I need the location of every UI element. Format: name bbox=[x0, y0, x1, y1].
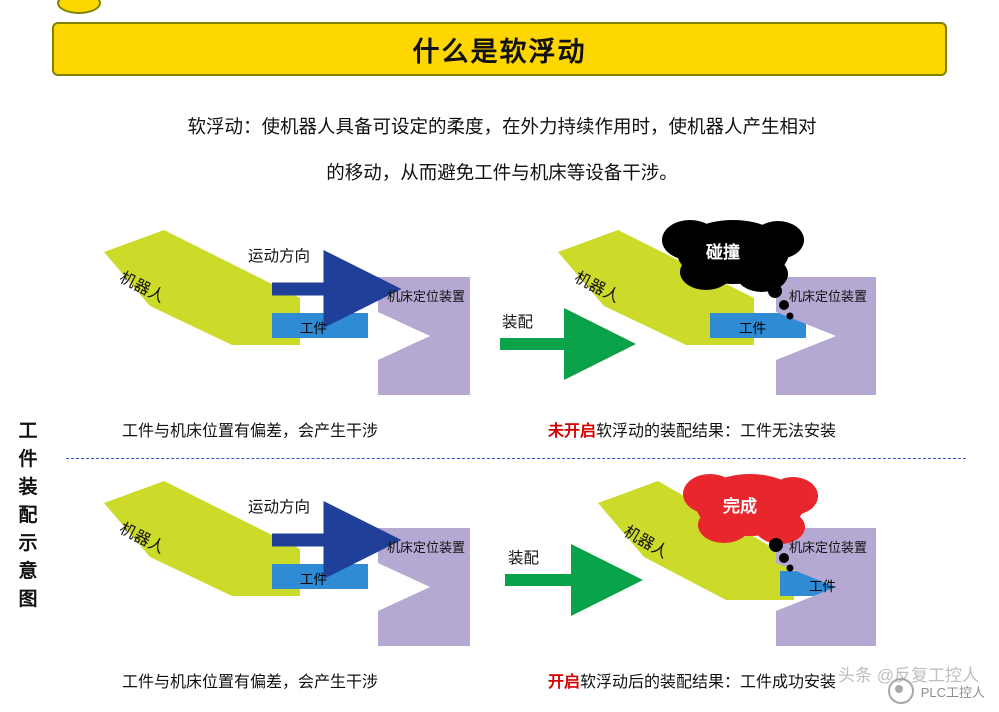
collision-bubble-label: 碰撞 bbox=[706, 238, 740, 263]
caption-bottom-right-highlight: 开启 bbox=[548, 674, 580, 691]
transfer-label-bottom: 装配 bbox=[508, 546, 539, 568]
workpiece-label-top-right: 工件 bbox=[739, 317, 766, 337]
caption-top-right-rest: 软浮动的装配结果：工件无法安装 bbox=[596, 423, 836, 440]
diagram-canvas bbox=[0, 0, 999, 712]
workpiece-label-top-left: 工件 bbox=[300, 317, 327, 337]
watermark-badge-label: PLC工控人 bbox=[921, 682, 985, 701]
watermark-logo-icon bbox=[888, 678, 914, 704]
caption-top-left: 工件与机床位置有偏差，会产生干涉 bbox=[122, 417, 378, 441]
fixture-label-top-left: 机床定位装置 bbox=[387, 286, 465, 305]
caption-bottom-right: 开启软浮动后的装配结果：工件成功安装 bbox=[548, 668, 836, 692]
caption-bottom-left: 工件与机床位置有偏差，会产生干涉 bbox=[122, 668, 378, 692]
caption-bottom-right-rest: 软浮动后的装配结果：工件成功安装 bbox=[580, 674, 836, 691]
fixture-label-bottom-right: 机床定位装置 bbox=[789, 537, 867, 556]
motion-label-bottom-left: 运动方向 bbox=[248, 495, 310, 517]
slide-root: 什么是软浮动 软浮动：使机器人具备可设定的柔度，在外力持续作用时，使机器人产生相… bbox=[0, 0, 999, 712]
transfer-label-top: 装配 bbox=[502, 310, 533, 332]
success-bubble-label: 完成 bbox=[723, 492, 757, 517]
motion-label-top-left: 运动方向 bbox=[248, 244, 310, 266]
watermark-badge: PLC工控人 bbox=[888, 678, 985, 704]
fixture-label-bottom-left: 机床定位装置 bbox=[387, 537, 465, 556]
caption-top-right: 未开启软浮动的装配结果：工件无法安装 bbox=[548, 417, 836, 441]
fixture-label-top-right: 机床定位装置 bbox=[789, 286, 867, 305]
caption-top-right-highlight: 未开启 bbox=[548, 423, 596, 440]
workpiece-label-bottom-right: 工件 bbox=[809, 575, 836, 595]
workpiece-label-bottom-left: 工件 bbox=[300, 568, 327, 588]
